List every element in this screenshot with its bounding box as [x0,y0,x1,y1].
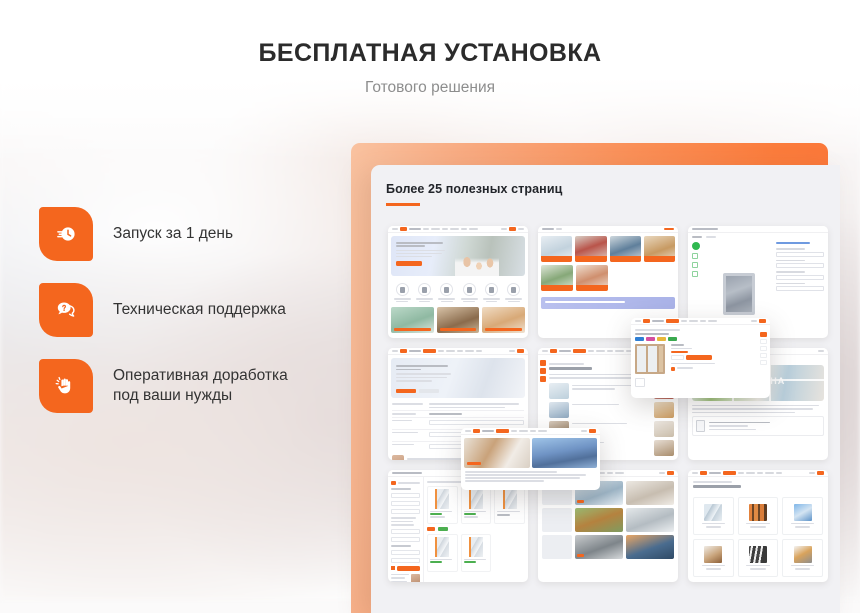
product-card[interactable] [738,497,779,535]
title-underline-accent [386,203,420,206]
feature-list: Запуск за 1 день Техническая поддержка О… [39,207,339,413]
product-card[interactable] [461,534,492,572]
gallery-row [542,535,674,559]
feature-item-launch: Запуск за 1 день [39,207,339,261]
feature-item-support: Техническая поддержка [39,283,339,337]
mini-navbar [388,348,528,355]
services-grid-row2 [538,265,678,294]
article-body [461,471,600,487]
page-title: БЕСПЛАТНАЯ УСТАНОВКА [0,39,860,68]
product-detail-overlay[interactable] [631,318,770,398]
mini-navbar [461,428,600,435]
mini-navbar [688,470,828,477]
gallery-row [542,508,674,532]
product-card[interactable] [782,497,823,535]
page-subtitle: Готового решения [0,79,860,97]
product-card[interactable] [693,497,734,535]
hero-photo-family [455,246,499,276]
mini-navbar [631,318,770,325]
product-grid [424,477,528,582]
clock-icon [39,207,93,261]
feature-item-label: Оперативная доработка под ваши нужды [113,366,288,406]
article-photo-pair [461,435,600,471]
product-card[interactable] [782,539,823,577]
purchase-panel[interactable] [671,344,717,374]
filter-sidebar[interactable] [388,477,424,582]
side-action-rail[interactable] [540,360,546,384]
homepage-thumbnail[interactable] [388,226,528,338]
feature-item-label: Техническая поддержка [113,300,286,320]
header: БЕСПЛАТНАЯ УСТАНОВКА Готового решения [0,0,860,97]
mini-navbar [688,226,828,233]
support-chat-icon [39,283,93,337]
mini-navbar [388,226,528,233]
feature-item-label: Запуск за 1 день [113,224,233,244]
product-card[interactable] [494,486,525,524]
catalog-layout [388,477,528,582]
thumbnail-grid: ПВХ ОКНА [388,226,828,582]
promo-banner [541,297,675,309]
hero-text [396,242,448,266]
product-card[interactable] [461,486,492,524]
product-card[interactable] [427,486,458,524]
services-grid [538,233,678,265]
mini-navbar [538,226,678,233]
configurator-form[interactable] [776,242,824,338]
product-card[interactable] [693,539,734,577]
benefit-icon-row [388,279,528,305]
showcase-title: Более 25 полезных страниц [386,182,840,196]
product-category-grid [688,492,828,582]
hero-banner [391,236,525,276]
news-detail-overlay[interactable] [461,428,600,490]
product-card[interactable] [738,539,779,577]
hand-tools-icon [39,359,93,413]
color-swatches[interactable] [635,337,766,341]
door-preview [635,344,665,374]
products-thumbnail[interactable] [688,470,828,582]
list-item [549,402,674,418]
related-product-box[interactable] [692,416,824,436]
hero-banner [391,358,525,398]
product-card[interactable] [427,534,458,572]
side-action-rail[interactable] [760,332,767,367]
feature-item-customization: Оперативная доработка под ваши нужды [39,359,339,413]
product-card-row [388,305,528,335]
